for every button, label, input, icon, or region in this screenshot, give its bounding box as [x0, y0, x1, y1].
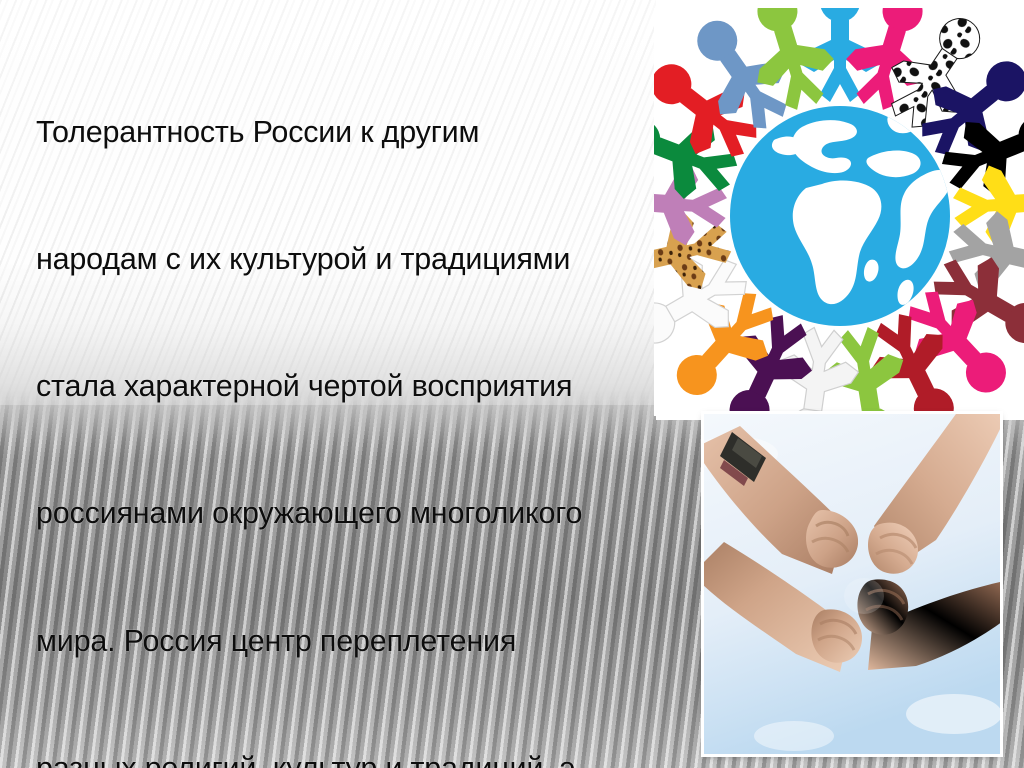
body-paragraph: Толерантность России к другим народам с … — [36, 26, 676, 768]
text-line-6: разных религий, культур и традиций, э — [36, 747, 676, 768]
text-line-2: народам с их культурой и традициями — [36, 238, 676, 280]
globe-with-people-illustration — [654, 8, 1024, 416]
text-line-5: мира. Россия центр переплетения — [36, 620, 676, 662]
text-line-3: стала характерной чертой восприятия — [36, 365, 676, 407]
slide-canvas: Толерантность России к другим народам с … — [0, 0, 1024, 768]
four-hands-photo — [704, 414, 1000, 754]
text-line-4: россиянами окружающего многоликого — [36, 492, 676, 534]
text-line-1: Толерантность России к другим — [36, 111, 676, 153]
